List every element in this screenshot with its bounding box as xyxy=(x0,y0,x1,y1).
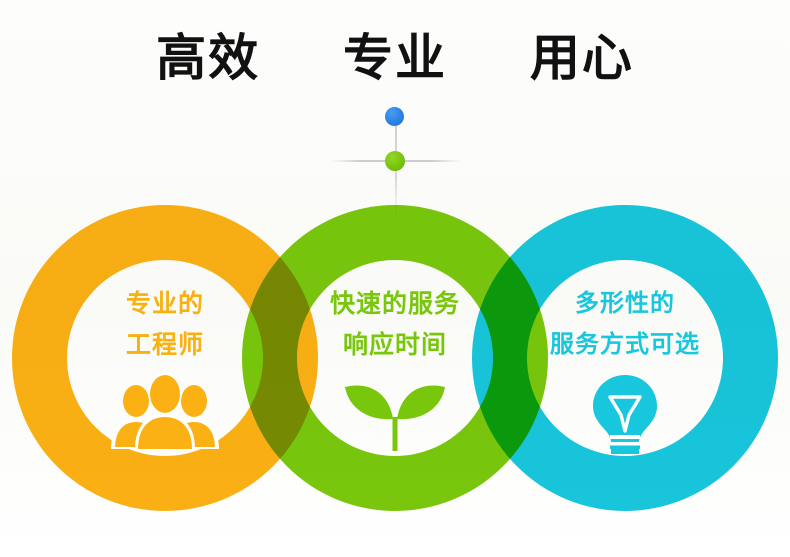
people-group-icon xyxy=(111,373,219,453)
venn-cell-service-options: 多形性的 服务方式可选 xyxy=(472,205,778,511)
page-title: 高效 专业 用心 xyxy=(0,26,790,90)
poster-canvas: 高效 专业 用心 专业的 工程师 xyxy=(0,0,790,557)
horizontal-line xyxy=(331,160,461,162)
blue-dot-icon xyxy=(385,107,404,126)
headline-word-2: 专业 xyxy=(343,26,447,90)
headline-word-3: 用心 xyxy=(530,26,634,90)
green-dot-icon xyxy=(385,151,405,171)
vertical-line xyxy=(395,114,397,218)
lightbulb-icon xyxy=(585,373,665,459)
venn-label-service-options: 多形性的 服务方式可选 xyxy=(472,283,778,365)
venn-label-line: 服务方式可选 xyxy=(472,324,778,365)
venn-diagram: 专业的 工程师 xyxy=(0,205,790,525)
venn-label-line: 多形性的 xyxy=(472,283,778,324)
sprout-icon xyxy=(339,373,451,455)
headline-word-1: 高效 xyxy=(156,26,260,90)
